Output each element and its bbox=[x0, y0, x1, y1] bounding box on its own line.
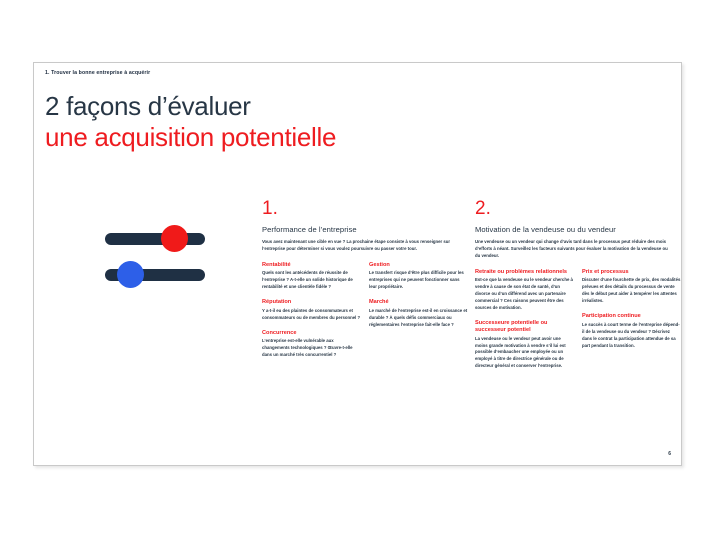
section-motivation: 2. Motivation de la vendeuse ou du vende… bbox=[475, 199, 690, 378]
slider-knob-blue bbox=[117, 261, 144, 288]
section-number: 1. bbox=[262, 199, 474, 218]
column: Retraite ou problèmes relationnels Est-c… bbox=[475, 269, 574, 378]
topic-block: Réputation Y a-t-il eu des plaintes de c… bbox=[262, 299, 361, 321]
topic-title: Marché bbox=[369, 299, 468, 306]
column: Prix et processus Discuter d’une fourche… bbox=[582, 269, 681, 378]
topic-block: Prix et processus Discuter d’une fourche… bbox=[582, 269, 681, 305]
topic-body: Y a-t-il eu des plaintes de consommateur… bbox=[262, 308, 361, 322]
page-title-line-1: 2 façons d’évaluer bbox=[45, 91, 545, 122]
slider-graphic bbox=[101, 229, 213, 291]
section-heading: Performance de l’entreprise bbox=[262, 225, 474, 234]
slide-eyebrow: 1. Trouver la bonne entreprise à acquéri… bbox=[45, 70, 150, 76]
section-heading: Motivation de la vendeuse ou du vendeur bbox=[475, 225, 690, 234]
topic-block: Successeure potentielle ou successeur po… bbox=[475, 320, 574, 370]
topic-block: Concurrence L’entreprise est-elle vulnér… bbox=[262, 330, 361, 359]
topic-block: Rentabilité Quels sont les antécédents d… bbox=[262, 262, 361, 291]
section-columns: Rentabilité Quels sont les antécédents d… bbox=[262, 262, 474, 367]
topic-body: Le transfert risque d’être plus difficil… bbox=[369, 270, 468, 291]
topic-title: Successeure potentielle ou successeur po… bbox=[475, 320, 574, 334]
section-number: 2. bbox=[475, 199, 690, 218]
topic-body: La vendeuse ou le vendeur peut avoir une… bbox=[475, 336, 574, 371]
section-intro: Une vendeuse ou un vendeur qui change d’… bbox=[475, 239, 673, 260]
page-title-line-2: une acquisition potentielle bbox=[45, 122, 545, 153]
topic-block: Marché Le marché de l’entreprise est-il … bbox=[369, 299, 468, 328]
column: Gestion Le transfert risque d’être plus … bbox=[369, 262, 468, 367]
topic-title: Prix et processus bbox=[582, 269, 681, 276]
section-columns: Retraite ou problèmes relationnels Est-c… bbox=[475, 269, 690, 378]
slider-knob-red bbox=[161, 225, 188, 252]
column: Rentabilité Quels sont les antécédents d… bbox=[262, 262, 361, 367]
section-performance: 1. Performance de l’entreprise Vous avez… bbox=[262, 199, 474, 367]
topic-body: Discuter d’une fourchette de prix, des m… bbox=[582, 277, 681, 305]
page-title: 2 façons d’évaluer une acquisition poten… bbox=[45, 91, 545, 152]
topic-title: Concurrence bbox=[262, 330, 361, 337]
topic-title: Rentabilité bbox=[262, 262, 361, 269]
topic-block: Gestion Le transfert risque d’être plus … bbox=[369, 262, 468, 291]
topic-body: Le succès à court terme de l’entreprise … bbox=[582, 322, 681, 350]
slide-canvas: 1. Trouver la bonne entreprise à acquéri… bbox=[33, 62, 682, 466]
topic-block: Participation continue Le succès à court… bbox=[582, 313, 681, 349]
topic-block: Retraite ou problèmes relationnels Est-c… bbox=[475, 269, 574, 312]
topic-body: L’entreprise est-elle vulnérable aux cha… bbox=[262, 338, 361, 359]
topic-body: Quels sont les antécédents de réussite d… bbox=[262, 270, 361, 291]
topic-body: Le marché de l’entreprise est-il en croi… bbox=[369, 308, 468, 329]
topic-title: Retraite ou problèmes relationnels bbox=[475, 269, 574, 276]
topic-title: Réputation bbox=[262, 299, 361, 306]
topic-body: Est-ce que la vendeuse ou le vendeur che… bbox=[475, 277, 574, 312]
slider-track-top bbox=[105, 233, 205, 245]
page-number: 6 bbox=[668, 451, 671, 457]
topic-title: Gestion bbox=[369, 262, 468, 269]
section-intro: Vous avez maintenant une cible en vue ? … bbox=[262, 239, 458, 253]
topic-title: Participation continue bbox=[582, 313, 681, 320]
